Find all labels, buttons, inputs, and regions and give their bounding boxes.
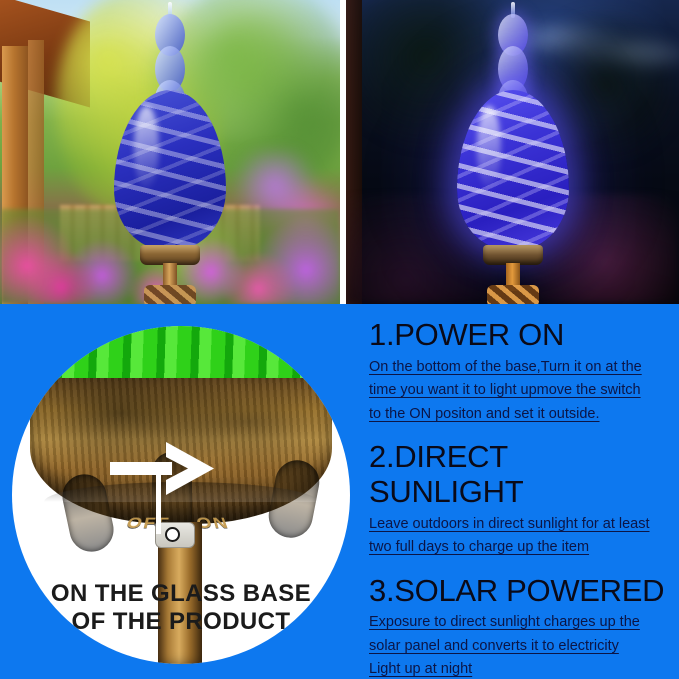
- blue-glass-flame-bulb-lit: [457, 90, 569, 250]
- step-body-line: On the bottom of the base,Turn it on at …: [369, 356, 667, 379]
- copper-spiral-stake: [487, 285, 539, 304]
- solar-light-ornament-night: [447, 2, 579, 304]
- step-body-line: solar panel and converts it to electrici…: [369, 635, 667, 658]
- step-body-line: to the ON positon and set it outside.: [369, 403, 667, 426]
- glass-swirl-pattern: [457, 90, 569, 250]
- step-title: 2.DIRECT SUNLIGHT: [369, 440, 667, 509]
- instructions-panel: OFFON ON THE GLASS BASE OF THE PRODUCT 1…: [0, 304, 679, 679]
- step-solar-powered: 3.SOLAR POWERED Exposure to direct sunli…: [367, 574, 667, 679]
- switch-location-callout: OFFON ON THE GLASS BASE OF THE PRODUCT: [12, 326, 350, 664]
- step-power-on: 1.POWER ON On the bottom of the base,Tur…: [367, 318, 667, 426]
- step-title: 1.POWER ON: [369, 318, 667, 353]
- step-body-line: Leave outdoors in direct sunlight for at…: [369, 513, 667, 536]
- copper-spiral-stake: [144, 285, 196, 304]
- daytime-garden-photo: [0, 0, 340, 304]
- step-body-line: time you want it to light upmove the swi…: [369, 379, 667, 402]
- step-body-line: Exposure to direct sunlight charges up t…: [369, 611, 667, 634]
- base-vent-slot: [58, 470, 117, 555]
- metal-base-collar: [140, 245, 200, 265]
- callout-caption: ON THE GLASS BASE OF THE PRODUCT: [12, 580, 350, 637]
- direction-arrow-icon: [110, 418, 246, 538]
- glass-swirl-pattern: [114, 90, 226, 250]
- product-infographic: OFFON ON THE GLASS BASE OF THE PRODUCT 1…: [0, 0, 679, 679]
- step-direct-sunlight: 2.DIRECT SUNLIGHT Leave outdoors in dire…: [367, 440, 667, 559]
- step-title: 3.SOLAR POWERED: [369, 574, 667, 609]
- photo-comparison-row: [0, 0, 679, 304]
- steps-list: 1.POWER ON On the bottom of the base,Tur…: [367, 318, 667, 679]
- step-body: Exposure to direct sunlight charges up t…: [369, 611, 667, 679]
- step-body-line: Light up at night: [369, 658, 667, 679]
- step-body: On the bottom of the base,Turn it on at …: [369, 356, 667, 426]
- step-body-line: two full days to charge up the item: [369, 536, 667, 559]
- step-body: Leave outdoors in direct sunlight for at…: [369, 513, 667, 560]
- solar-light-ornament-day: [104, 2, 236, 304]
- blue-glass-flame-bulb: [114, 90, 226, 250]
- metal-base-collar: [483, 245, 543, 265]
- nighttime-garden-photo: [346, 0, 679, 304]
